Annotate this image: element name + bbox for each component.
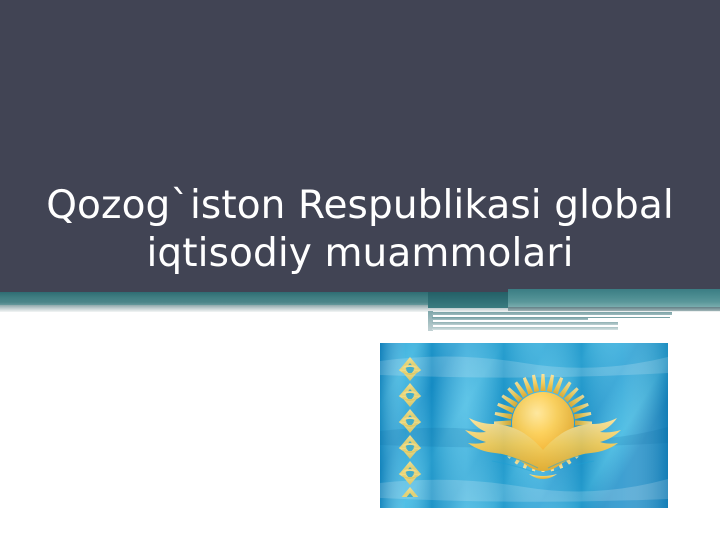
flag-graphic (380, 343, 668, 508)
divider-bar-right-upper-shadow (508, 307, 720, 311)
kazakhstan-flag-image (380, 343, 668, 508)
accent-line-5 (432, 327, 618, 330)
accent-line-4 (432, 322, 618, 325)
presentation-slide: Qozog`iston Respublikasi global iqtisodi… (0, 0, 720, 540)
divider-bar-right-upper (508, 289, 720, 307)
flag-sheen (380, 343, 668, 508)
page-title: Qozog`iston Respublikasi global iqtisodi… (30, 182, 690, 278)
title-line-2: iqtisodiy muammolari (30, 230, 690, 278)
title-line-1: Qozog`iston Respublikasi global (30, 182, 690, 230)
accent-line-1 (432, 312, 672, 315)
accent-line-3 (588, 318, 720, 321)
